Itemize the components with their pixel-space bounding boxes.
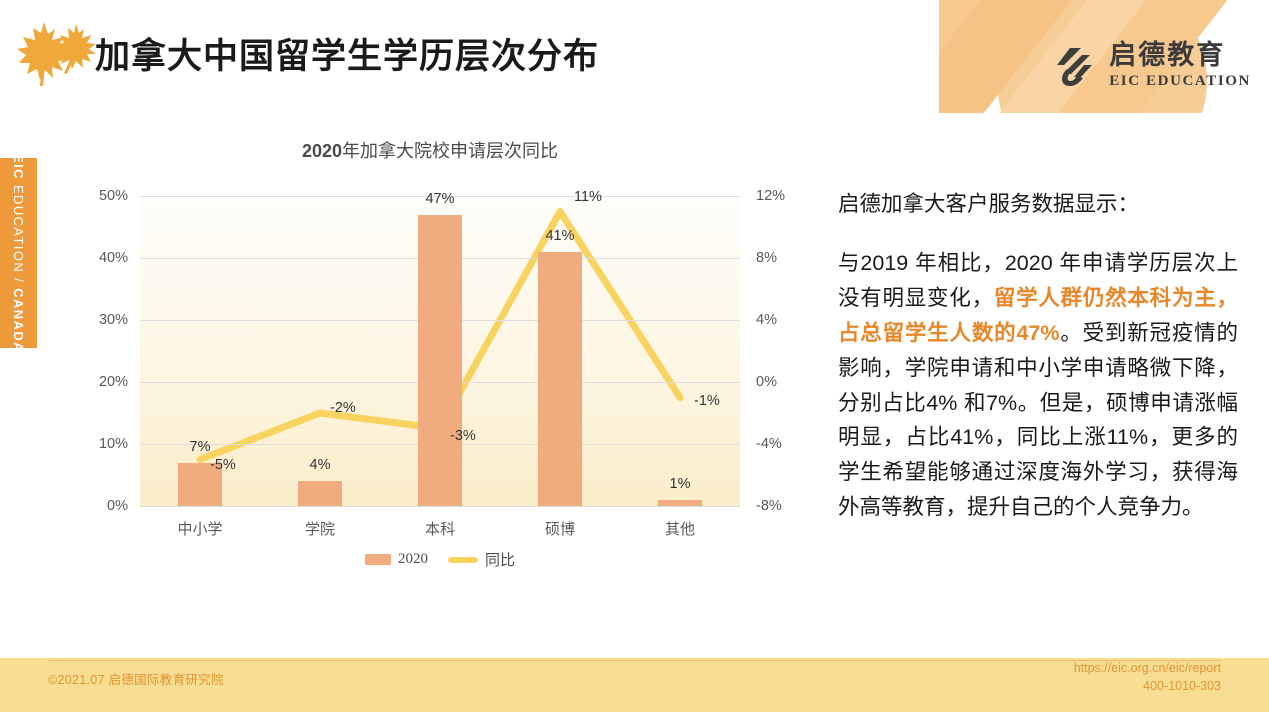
x-axis-category-label: 中小学 (177, 518, 222, 539)
x-axis-category-label: 其他 (665, 518, 695, 539)
bar-value-label: 4% (310, 457, 331, 473)
x-axis-category-label: 学院 (305, 518, 335, 539)
chart-plot-area: 0%10%20%30%40%50%-8%-4%0%4%8%12%7%中小学4%学… (140, 196, 740, 506)
side-tab-middle: EDUCATION / (11, 179, 26, 287)
logo-chinese-name: 启德教育 (1109, 42, 1251, 69)
legend-item-yoy[interactable]: 同比 (448, 549, 515, 570)
legend-label-2020: 2020 (398, 551, 428, 568)
chart-title-rest: 年加拿大院校申请层次同比 (342, 141, 558, 161)
chart-bar[interactable] (418, 215, 462, 506)
bar-value-label: 7% (190, 439, 211, 455)
side-tab-bold-suffix: CANADA (11, 288, 26, 353)
panel-body-text: 与2019 年相比，2020 年申请学历层次上没有明显变化，留学人群仍然本科为主… (838, 246, 1238, 525)
chart: 2020年加拿大院校申请层次同比 0%10%20%30%40%50%-8%-4%… (60, 125, 800, 585)
y-axis-left-tick: 40% (99, 250, 128, 266)
legend-item-2020[interactable]: 2020 (365, 551, 428, 568)
content-card: EIC EDUCATION / CANADA 2020年加拿大院校申请层次同比 … (0, 113, 1269, 658)
bar-value-label: 47% (425, 191, 454, 207)
side-tab-label: EIC EDUCATION / CANADA (11, 154, 26, 353)
chart-bar[interactable] (298, 481, 342, 506)
legend-bar-swatch-icon (365, 554, 391, 565)
line-value-label: -5% (210, 457, 236, 473)
chart-bar[interactable] (538, 252, 582, 506)
chart-bar[interactable] (658, 500, 702, 506)
footer-contact: https://eic.org.cn/eic/report 400-1010-3… (1074, 659, 1221, 697)
line-value-label: 11% (574, 189, 602, 205)
y-axis-right-tick: 4% (756, 312, 777, 328)
y-axis-right-tick: 0% (756, 374, 777, 390)
header-band: 加拿大中国留学生学历层次分布 启德教育 EIC EDUCATION (0, 0, 1269, 113)
logo-english-name: EIC EDUCATION (1109, 74, 1251, 89)
y-axis-left-tick: 50% (99, 188, 128, 204)
line-value-label: -2% (330, 400, 356, 416)
y-axis-right-tick: 8% (756, 250, 777, 266)
y-axis-right-tick: 12% (756, 188, 785, 204)
footer-phone: 400-1010-303 (1074, 677, 1221, 696)
analysis-panel: 启德加拿大客户服务数据显示： 与2019 年相比，2020 年申请学历层次上没有… (838, 188, 1238, 525)
line-value-label: -3% (450, 428, 476, 444)
x-axis-category-label: 硕博 (545, 518, 575, 539)
panel-body-part2: 。受到新冠疫情的影响，学院申请和中小学申请略微下降，分别占比4% 和7%。但是，… (838, 321, 1238, 519)
page-title: 加拿大中国留学生学历层次分布 (95, 28, 599, 79)
footer-divider (48, 660, 1221, 661)
maple-leaf-icon (14, 16, 100, 88)
chart-title: 2020年加拿大院校申请层次同比 (60, 137, 800, 163)
y-axis-right-tick: -4% (756, 436, 782, 452)
side-tab-bold-prefix: EIC (11, 154, 26, 180)
footer-copyright: ©2021.07 启德国际教育研究院 (48, 669, 224, 688)
line-value-label: -1% (694, 393, 720, 409)
bar-value-label: 41% (545, 228, 574, 244)
side-tab-canada: EIC EDUCATION / CANADA (0, 158, 37, 348)
x-axis-category-label: 本科 (425, 518, 455, 539)
y-axis-left-tick: 20% (99, 374, 128, 390)
y-axis-left-tick: 0% (107, 498, 128, 514)
y-axis-right-tick: -8% (756, 498, 782, 514)
eic-mark-icon (1051, 43, 1097, 89)
panel-lead-text: 启德加拿大客户服务数据显示： (838, 188, 1238, 220)
chart-legend: 2020 同比 (140, 549, 740, 570)
chart-title-year: 2020 (302, 141, 342, 161)
bar-value-label: 1% (670, 476, 691, 492)
legend-label-yoy: 同比 (485, 549, 515, 570)
y-axis-left-tick: 30% (99, 312, 128, 328)
footer-url[interactable]: https://eic.org.cn/eic/report (1074, 659, 1221, 678)
brand-logo: 启德教育 EIC EDUCATION (1051, 42, 1251, 89)
chart-gridline (140, 506, 740, 507)
legend-line-swatch-icon (448, 557, 478, 563)
y-axis-left-tick: 10% (99, 436, 128, 452)
